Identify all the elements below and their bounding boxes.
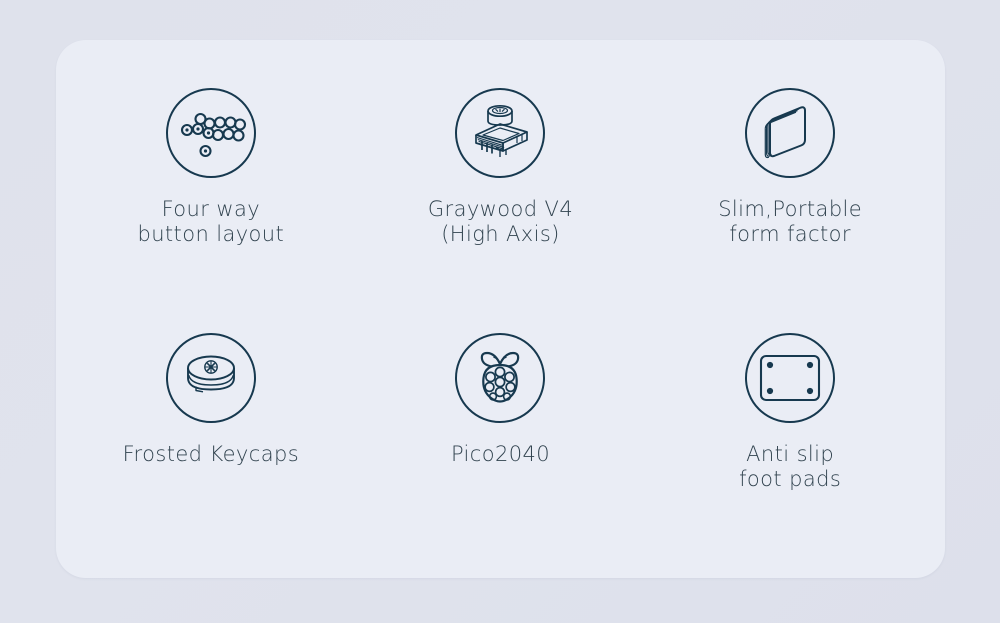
caption-line: button layout <box>137 222 284 247</box>
caption-line: Four way <box>137 197 284 222</box>
caption-line: Anti slip <box>739 442 841 467</box>
caption-line: (High Axis) <box>428 222 573 247</box>
caption-line: foot pads <box>739 467 841 492</box>
feature-caption: Slim,Portable form factor <box>718 197 862 247</box>
feature-caption: Four way button layout <box>137 197 284 247</box>
frosted-keycap-icon <box>166 333 256 423</box>
feature-item-anti-slip-foot-pads: Anti slip foot pads <box>645 315 935 568</box>
feature-item-slim-portable: Slim,Portable form factor <box>645 62 935 315</box>
feature-grid: Four way button layout <box>56 40 945 578</box>
feature-item-four-way-button-layout: Four way button layout <box>66 62 356 315</box>
raspberry-pi-icon <box>455 333 545 423</box>
caption-line: Pico2040 <box>451 442 550 467</box>
four-way-button-layout-icon <box>166 88 256 178</box>
feature-item-frosted-keycaps: Frosted Keycaps <box>66 315 356 568</box>
caption-line: Frosted Keycaps <box>123 442 299 467</box>
caption-line: Slim,Portable <box>718 197 862 222</box>
feature-caption: Anti slip foot pads <box>739 442 841 492</box>
anti-slip-foot-pads-icon <box>745 333 835 423</box>
feature-caption: Graywood V4 (High Axis) <box>428 197 573 247</box>
caption-line: form factor <box>718 222 862 247</box>
feature-caption: Frosted Keycaps <box>123 442 299 467</box>
slim-slab-icon <box>745 88 835 178</box>
feature-caption: Pico2040 <box>451 442 550 467</box>
feature-card: Four way button layout <box>56 40 945 578</box>
feature-graphic: Four way button layout <box>0 0 1000 623</box>
caption-line: Graywood V4 <box>428 197 573 222</box>
feature-item-pico2040: Pico2040 <box>356 315 646 568</box>
feature-item-graywood-switch: Graywood V4 (High Axis) <box>356 62 646 315</box>
mechanical-switch-icon <box>455 88 545 178</box>
